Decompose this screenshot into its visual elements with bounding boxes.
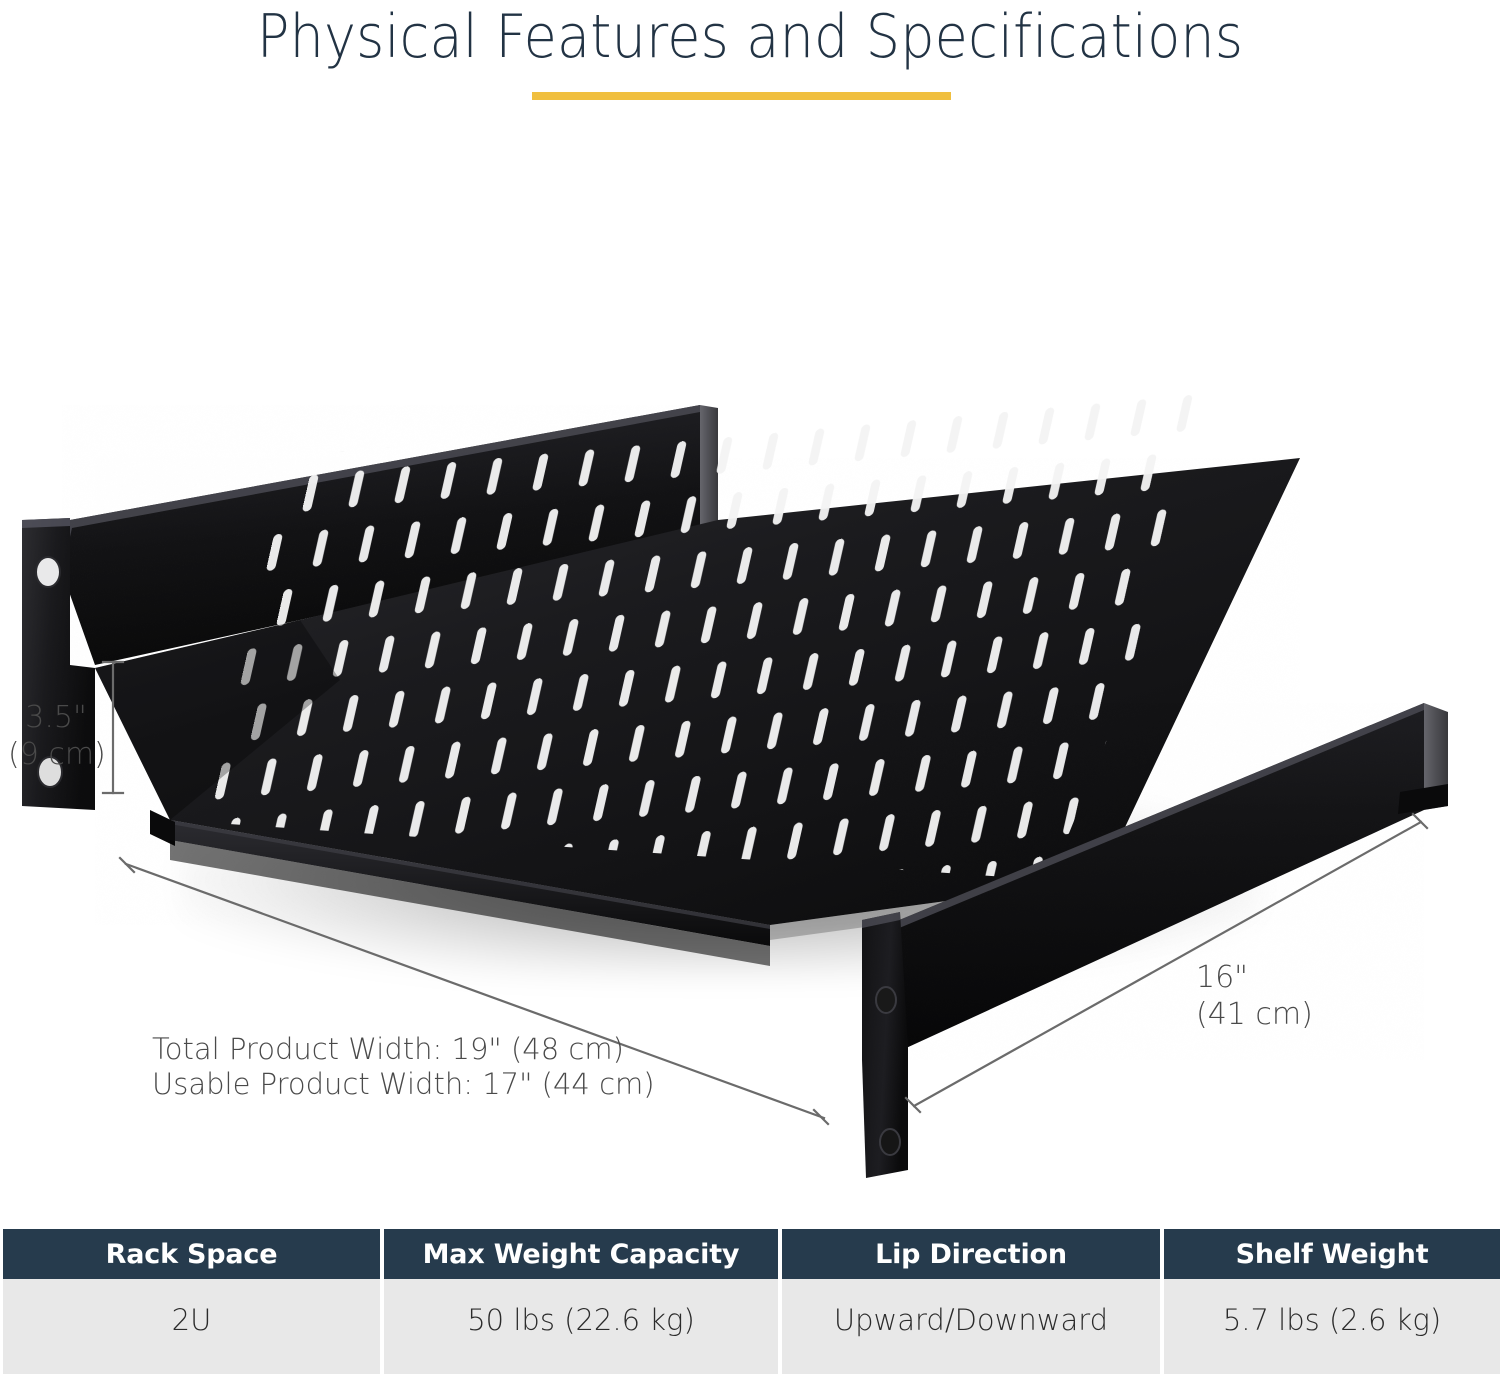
table-cell-max-weight-capacity: 50 lbs (22.6 kg) xyxy=(384,1279,778,1374)
dimension-total-product-width: Total Product Width: 19" (48 cm) xyxy=(152,1032,655,1067)
table-header-max-weight-capacity: Max Weight Capacity xyxy=(384,1229,778,1279)
title-accent-underline xyxy=(532,92,951,100)
dimension-depth-inches: 16" xyxy=(1196,960,1313,997)
dimension-label-width: Total Product Width: 19" (48 cm) Usable … xyxy=(152,1032,655,1103)
dimension-height-cm: (9 cm) xyxy=(8,737,104,774)
table-cell-rack-space: 2U xyxy=(3,1279,380,1374)
table-header-lip-direction: Lip Direction xyxy=(782,1229,1160,1279)
dimension-usable-product-width: Usable Product Width: 17" (44 cm) xyxy=(152,1067,655,1102)
page-header: Physical Features and Specifications xyxy=(0,0,1500,120)
dimension-depth-cm: (41 cm) xyxy=(1196,997,1313,1034)
specifications-table: Rack Space Max Weight Capacity Lip Direc… xyxy=(3,1229,1492,1374)
table-cell-lip-direction: Upward/Downward xyxy=(782,1279,1160,1374)
table-header-rack-space: Rack Space xyxy=(3,1229,380,1279)
dimension-height-inches: 3.5" xyxy=(8,700,104,737)
product-illustration: 3.5" (9 cm) 16" (41 cm) Total Product Wi… xyxy=(0,120,1500,1215)
table-cell-shelf-weight: 5.7 lbs (2.6 kg) xyxy=(1164,1279,1500,1374)
page-title: Physical Features and Specifications xyxy=(75,2,1425,72)
dimension-label-depth: 16" (41 cm) xyxy=(1196,960,1313,1033)
table-header-shelf-weight: Shelf Weight xyxy=(1164,1229,1500,1279)
dimension-label-height: 3.5" (9 cm) xyxy=(8,700,104,773)
